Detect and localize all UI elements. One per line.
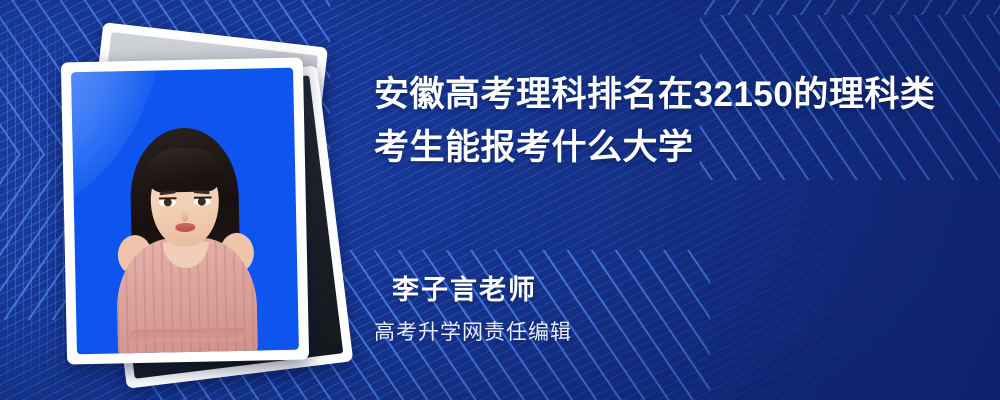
author-name: 李子言老师 bbox=[392, 268, 537, 307]
photo-card-stack bbox=[56, 42, 356, 352]
eyelash-right bbox=[194, 196, 212, 198]
portrait-figure bbox=[71, 68, 299, 355]
eyelash-left bbox=[159, 197, 177, 199]
author-portrait-photo bbox=[71, 68, 299, 355]
hair-fringe bbox=[146, 147, 223, 193]
author-role: 高考升学网责任编辑 bbox=[374, 316, 572, 346]
nose bbox=[182, 210, 188, 222]
dress-waist-seam bbox=[129, 328, 245, 343]
text-content-column: 安徽高考理科排名在32150的理科类考生能报考什么大学 李子言老师 高考升学网责… bbox=[374, 0, 960, 400]
photo-card-front bbox=[61, 57, 309, 364]
headline-title: 安徽高考理科排名在32150的理科类考生能报考什么大学 bbox=[374, 68, 960, 174]
article-cover-banner: 安徽高考理科排名在32150的理科类考生能报考什么大学 李子言老师 高考升学网责… bbox=[0, 0, 1000, 400]
